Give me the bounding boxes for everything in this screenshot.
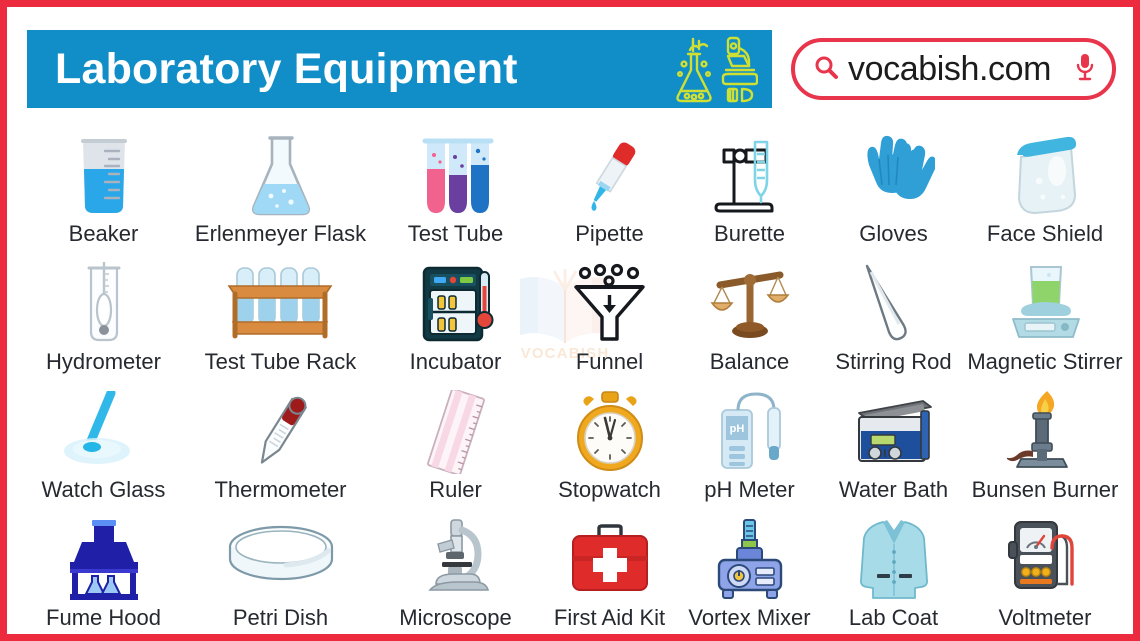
- funnel-icon: [540, 261, 680, 347]
- equipment-item[interactable]: Balance: [680, 247, 820, 375]
- equipment-item[interactable]: Gloves: [820, 119, 968, 247]
- flask-microscope-icon: [666, 34, 758, 104]
- equipment-label: Ruler: [429, 478, 482, 501]
- ph-meter-icon: pH: [680, 389, 820, 475]
- equipment-item[interactable]: 123 45 Ruler: [372, 375, 540, 503]
- equipment-item[interactable]: Lab Coat: [820, 503, 968, 631]
- equipment-item[interactable]: Erlenmeyer Flask: [190, 119, 372, 247]
- equipment-label: Pipette: [575, 222, 644, 245]
- infographic-poster: VOCABISH Laboratory Equipment: [0, 0, 1140, 641]
- equipment-item[interactable]: Watch Glass: [18, 375, 190, 503]
- ruler-icon: 123 45: [372, 389, 540, 475]
- equipment-label: Microscope: [399, 606, 511, 629]
- equipment-item[interactable]: Petri Dish: [190, 503, 372, 631]
- equipment-label: Test Tube: [408, 222, 503, 245]
- equipment-label: Thermometer: [214, 478, 346, 501]
- equipment-item[interactable]: Water Bath: [820, 375, 968, 503]
- face-shield-icon: [968, 133, 1123, 219]
- equipment-label: Watch Glass: [42, 478, 166, 501]
- equipment-label: Funnel: [576, 350, 643, 373]
- equipment-item[interactable]: Magnetic Stirrer: [968, 247, 1123, 375]
- balance-scale-icon: [680, 261, 820, 347]
- incubator-icon: [372, 261, 540, 347]
- erlenmeyer-flask-icon: [190, 133, 372, 219]
- equipment-item[interactable]: Pipette: [540, 119, 680, 247]
- equipment-label: Test Tube Rack: [205, 350, 357, 373]
- petri-dish-icon: [190, 517, 372, 603]
- voltmeter-icon: [968, 517, 1123, 603]
- equipment-item[interactable]: Voltmeter: [968, 503, 1123, 631]
- page-title: Laboratory Equipment: [55, 45, 666, 94]
- hydrometer-icon: [18, 261, 190, 347]
- stirring-rod-icon: [820, 261, 968, 347]
- magnetic-stirrer-icon: [968, 261, 1123, 347]
- svg-text:pH: pH: [729, 423, 744, 435]
- equipment-item[interactable]: pH pH Meter: [680, 375, 820, 503]
- equipment-item[interactable]: Test Tube: [372, 119, 540, 247]
- first-aid-kit-icon: [540, 517, 680, 603]
- equipment-item[interactable]: Hydrometer: [18, 247, 190, 375]
- gloves-icon: [820, 133, 968, 219]
- thermometer-icon: [190, 389, 372, 475]
- equipment-label: Lab Coat: [849, 606, 938, 629]
- watch-glass-icon: [18, 389, 190, 475]
- equipment-item[interactable]: First Aid Kit: [540, 503, 680, 631]
- test-tube-icon: [372, 133, 540, 219]
- equipment-label: Water Bath: [839, 478, 948, 501]
- equipment-label: Vortex Mixer: [688, 606, 810, 629]
- vortex-mixer-icon: [680, 517, 820, 603]
- pipette-icon: [540, 133, 680, 219]
- stopwatch-icon: [540, 389, 680, 475]
- header-banner: Laboratory Equipment: [27, 30, 772, 108]
- equipment-grid: Beaker Erlenmeyer Flask: [15, 119, 1125, 631]
- equipment-item[interactable]: Thermometer: [190, 375, 372, 503]
- equipment-label: Magnetic Stirrer: [967, 350, 1122, 373]
- bunsen-burner-icon: [968, 389, 1123, 475]
- equipment-item[interactable]: Fume Hood: [18, 503, 190, 631]
- equipment-item[interactable]: Burette: [680, 119, 820, 247]
- search-icon: [813, 54, 839, 85]
- equipment-label: Balance: [710, 350, 790, 373]
- equipment-label: Voltmeter: [999, 606, 1092, 629]
- equipment-label: Burette: [714, 222, 785, 245]
- equipment-label: Incubator: [410, 350, 502, 373]
- lab-coat-icon: [820, 517, 968, 603]
- test-tube-rack-icon: [190, 261, 372, 347]
- equipment-item[interactable]: Face Shield: [968, 119, 1123, 247]
- water-bath-icon: [820, 389, 968, 475]
- equipment-item[interactable]: Vortex Mixer: [680, 503, 820, 631]
- equipment-label: Face Shield: [987, 222, 1103, 245]
- fume-hood-icon: [18, 517, 190, 603]
- brand-search-pill[interactable]: vocabish.com: [791, 38, 1116, 100]
- equipment-item[interactable]: Bunsen Burner: [968, 375, 1123, 503]
- microphone-icon[interactable]: [1074, 52, 1096, 87]
- equipment-label: Erlenmeyer Flask: [195, 222, 366, 245]
- equipment-label: First Aid Kit: [554, 606, 665, 629]
- microscope-icon: [372, 517, 540, 603]
- equipment-item[interactable]: Funnel: [540, 247, 680, 375]
- equipment-label: Fume Hood: [46, 606, 161, 629]
- beaker-icon: [18, 133, 190, 219]
- equipment-label: Petri Dish: [233, 606, 328, 629]
- equipment-item[interactable]: Beaker: [18, 119, 190, 247]
- equipment-label: Bunsen Burner: [972, 478, 1119, 501]
- equipment-item[interactable]: Test Tube Rack: [190, 247, 372, 375]
- equipment-item[interactable]: Incubator: [372, 247, 540, 375]
- burette-icon: [680, 133, 820, 219]
- brand-text: vocabish.com: [848, 52, 1065, 86]
- equipment-item[interactable]: Stopwatch: [540, 375, 680, 503]
- equipment-label: Stirring Rod: [835, 350, 951, 373]
- equipment-item[interactable]: Stirring Rod: [820, 247, 968, 375]
- equipment-label: Beaker: [69, 222, 139, 245]
- equipment-item[interactable]: Microscope: [372, 503, 540, 631]
- equipment-label: Stopwatch: [558, 478, 661, 501]
- equipment-label: Gloves: [859, 222, 927, 245]
- equipment-label: pH Meter: [704, 478, 794, 501]
- equipment-label: Hydrometer: [46, 350, 161, 373]
